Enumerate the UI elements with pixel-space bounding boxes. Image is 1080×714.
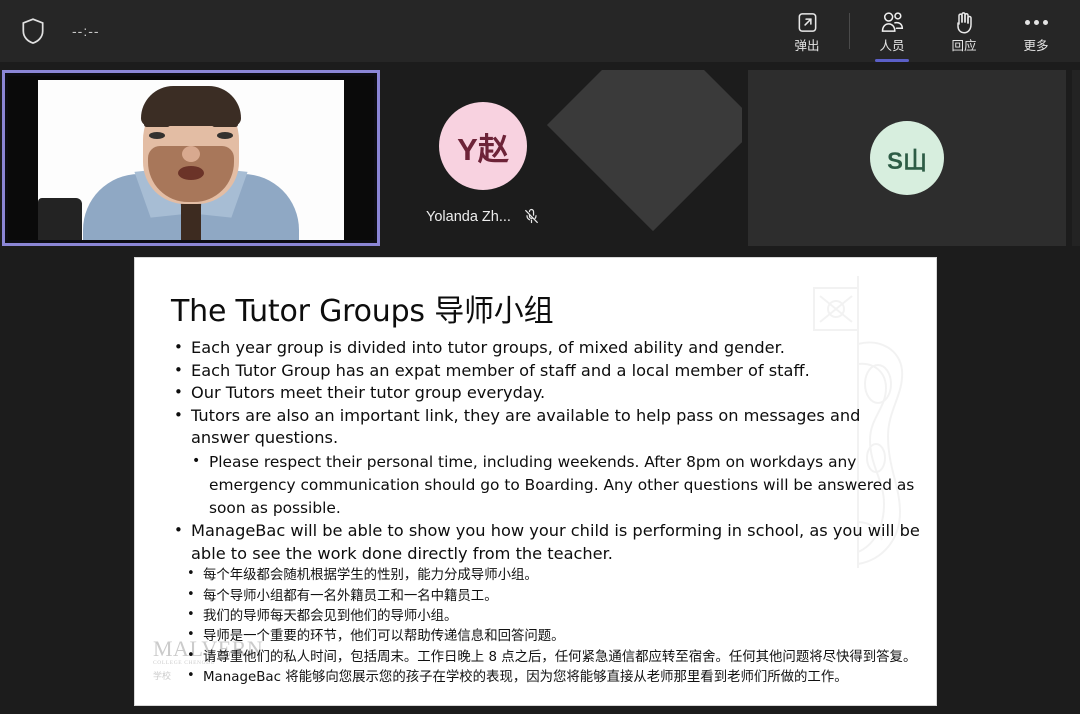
bullet-item: Our Tutors meet their tutor group everyd… [171,382,922,405]
toolbar-right-group: 弹出 人员 [771,0,1072,62]
mic-off-icon [523,208,540,225]
bullet-item: Each Tutor Group has an expat member of … [171,360,922,383]
participant-name: Yolanda Zh... [426,209,511,225]
slide-title: The Tutor Groups 导师小组 [171,286,922,330]
participant-tile-yolanda[interactable]: Y赵 Yolanda Zh... [390,70,742,246]
participant-tile-shan[interactable]: S山 [748,70,1066,246]
meeting-timer: --:-- [72,23,100,39]
toolbar-divider [849,13,850,49]
popout-label: 弹出 [794,39,819,53]
avatar: S山 [870,121,944,195]
meeting-toolbar: --:-- 弹出 [0,0,1080,62]
person-figure [76,84,306,240]
slide-body: The Tutor Groups 导师小组 Each year group is… [135,258,936,705]
video-frame [38,80,344,240]
filmstrip-edge-divider [1072,70,1080,246]
toolbar-left-group: --:-- [0,17,100,45]
bullet-item-cn: 我们的导师每天都会见到他们的导师小组。 [181,607,922,627]
avatar: Y赵 [439,102,527,190]
slide-bullets-english-tail: ManageBac will be able to show you how y… [171,520,922,565]
reactions-label: 回应 [951,39,976,53]
participant-filmstrip: Y赵 Yolanda Zh... S山 [0,62,1080,254]
people-icon [880,10,905,36]
more-label: 更多 [1023,39,1048,53]
bullet-item: Each year group is divided into tutor gr… [171,337,922,360]
slide-bullets-chinese: 每个年级都会随机根据学生的性别，能力分成导师小组。 每个导师小组都有一名外籍员工… [181,566,922,688]
bullet-item: ManageBac will be able to show you how y… [171,520,922,565]
popout-icon [796,10,819,36]
sub-bullet-item: Please respect their personal time, incl… [189,451,922,520]
bullet-item-cn: 请尊重他们的私人时间，包括周末。工作日晚上 8 点之后，任何紧急通信都应转至宿舍… [181,648,922,668]
popout-button[interactable]: 弹出 [771,2,843,60]
more-button[interactable]: 更多 [1000,2,1072,60]
video-feed [8,76,374,240]
diamond-shape [547,70,742,231]
bullet-item-cn: ManageBac 将能够向您展示您的孩子在学校的表现，因为您将能够直接从老师那… [181,668,922,688]
bullet-item: Tutors are also an important link, they … [171,405,922,450]
meeting-window: --:-- 弹出 [0,0,1080,714]
participant-name-row: Yolanda Zh... [426,208,540,225]
reactions-button[interactable]: 回应 [928,2,1000,60]
bullet-item-cn: 导师是一个重要的环节，他们可以帮助传递信息和回答问题。 [181,627,922,647]
people-button[interactable]: 人员 [856,2,928,60]
raise-hand-icon [953,10,975,36]
slide-bullets-english: Each year group is divided into tutor gr… [171,337,922,450]
slide-sub-bullets-english: Please respect their personal time, incl… [171,451,922,520]
bullet-item-cn: 每个年级都会随机根据学生的性别，能力分成导师小组。 [181,566,922,586]
shield-icon [20,17,46,45]
bullet-item-cn: 每个导师小组都有一名外籍员工和一名中籍员工。 [181,587,922,607]
more-dots-icon [1025,10,1048,36]
shared-content-stage: MALVERN COLLEGE CHENGDU 学校 The Tutor Gro… [0,254,1080,714]
participant-tile-video[interactable] [2,70,380,246]
presentation-slide[interactable]: MALVERN COLLEGE CHENGDU 学校 The Tutor Gro… [135,258,936,705]
people-label: 人员 [879,39,904,53]
